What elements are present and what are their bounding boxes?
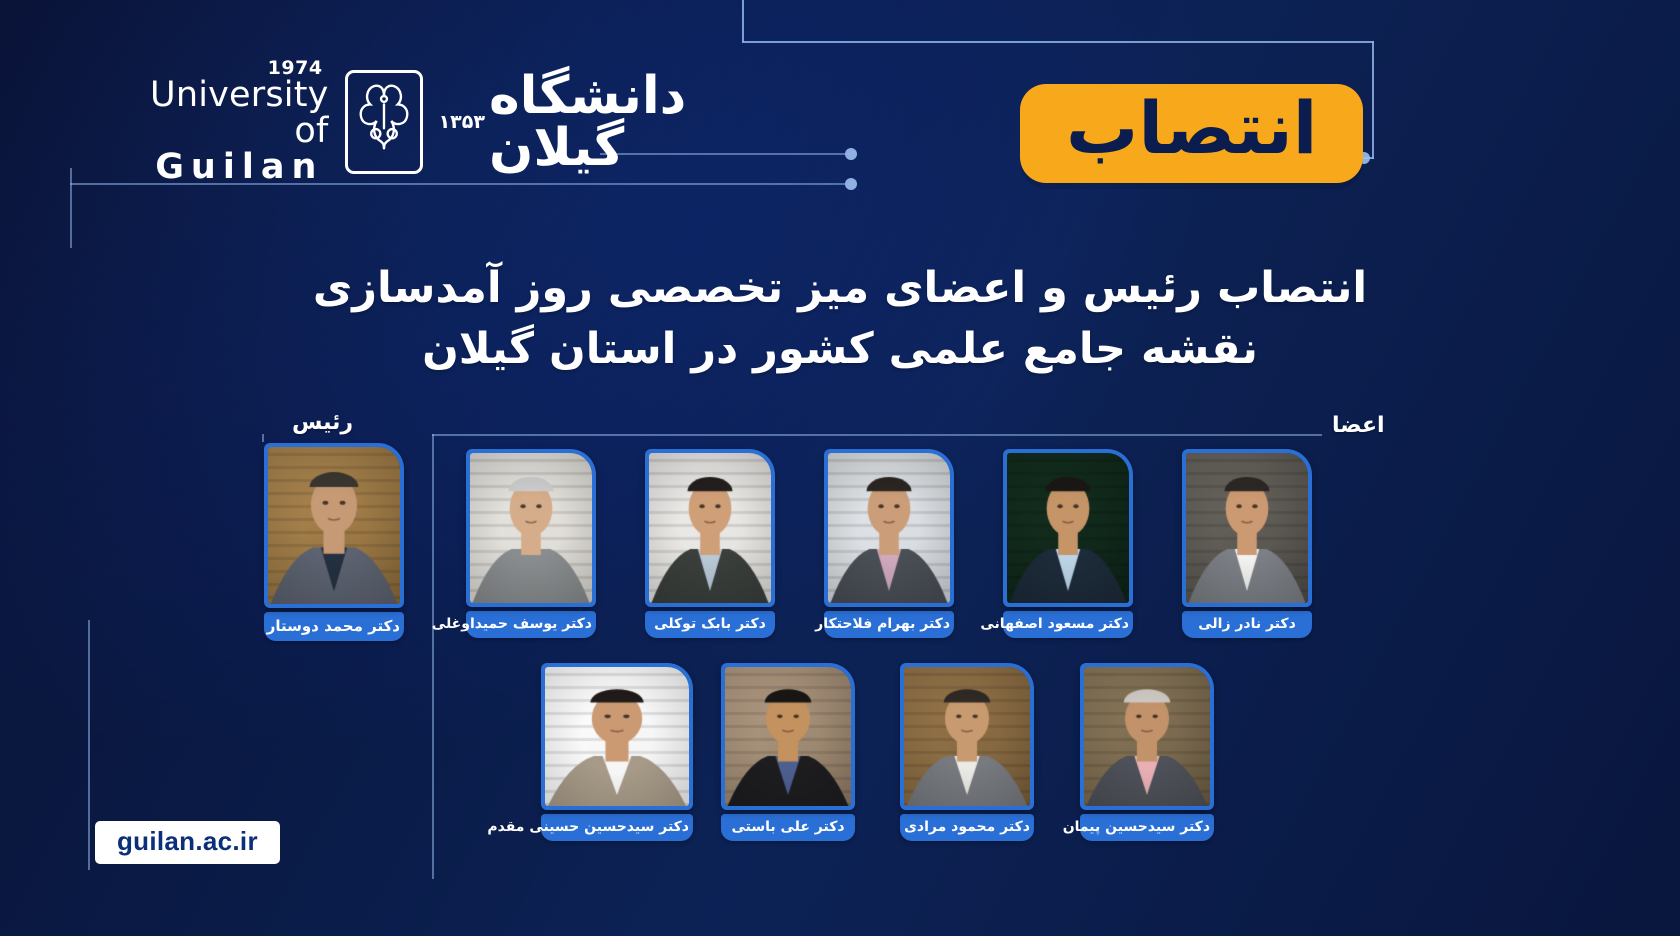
member-photo-frame	[721, 663, 855, 810]
member-photo-frame	[466, 449, 596, 607]
poster-canvas: 1974 University of Guilan ۱۳۵۳ دانشگاه گ…	[0, 0, 1680, 936]
member-photo-frame	[1003, 449, 1133, 607]
member-photo-frame	[900, 663, 1034, 810]
member-photo	[649, 453, 771, 603]
university-logo: 1974 University of Guilan ۱۳۵۳ دانشگاه گ…	[150, 62, 710, 182]
member-photo-frame	[1080, 663, 1214, 810]
member-name: دکتر نادر زالی	[1182, 611, 1312, 638]
member-photo	[904, 667, 1030, 806]
member-photo-frame	[645, 449, 775, 607]
member-card[interactable]: دکتر بهرام فلاحتکار	[824, 449, 954, 638]
member-photo	[828, 453, 950, 603]
member-card[interactable]: دکتر سیدحسین پیمان	[1080, 663, 1214, 841]
member-name: دکتر سیدحسین حسینی مقدم	[541, 814, 693, 841]
logo-name-en-line1: University of	[150, 78, 329, 149]
page-title-line1: انتصاب رئیس و اعضای میز تخصصی روز آمدساز…	[160, 258, 1520, 319]
section-label-members: اعضا	[1332, 413, 1385, 438]
chair-card[interactable]: دکتر محمد دوستار	[264, 443, 404, 641]
chair-name: دکتر محمد دوستار	[264, 612, 404, 641]
logo-year-fa: ۱۳۵۳	[439, 111, 485, 133]
deco-connector-chair	[262, 434, 264, 442]
appointment-badge-label: انتصاب	[1066, 92, 1317, 165]
logo-name-fa: دانشگاه گیلان	[489, 70, 710, 174]
member-card[interactable]: دکتر یوسف حمیداوغلی	[466, 449, 596, 638]
member-card[interactable]: دکتر مسعود اصفهانی	[1003, 449, 1133, 638]
page-title-line2: نقشه جامع علمی کشور در استان گیلان	[160, 319, 1520, 380]
member-name: دکتر بهرام فلاحتکار	[824, 611, 954, 638]
poster-header: 1974 University of Guilan ۱۳۵۳ دانشگاه گ…	[0, 0, 1680, 230]
chair-photo-frame	[264, 443, 404, 608]
member-name: دکتر یوسف حمیداوغلی	[466, 611, 596, 638]
member-name: دکتر محمود مرادی	[900, 814, 1034, 841]
member-photo	[470, 453, 592, 603]
logo-name-en-line2: Guilan	[150, 150, 329, 186]
member-photo	[545, 667, 689, 806]
member-name: دکتر مسعود اصفهانی	[1003, 611, 1133, 638]
member-card[interactable]: دکتر علی باستی	[721, 663, 855, 841]
member-card[interactable]: دکتر سیدحسین حسینی مقدم	[541, 663, 693, 841]
member-photo-frame	[1182, 449, 1312, 607]
member-photo-frame	[541, 663, 693, 810]
section-label-chair: رئیس	[292, 410, 353, 435]
member-photo	[1084, 667, 1210, 806]
member-photo	[725, 667, 851, 806]
butterfly-emblem-icon	[345, 70, 423, 174]
member-card[interactable]: دکتر نادر زالی	[1182, 449, 1312, 638]
member-photo-frame	[824, 449, 954, 607]
member-photo	[1186, 453, 1308, 603]
deco-connector-members-top	[432, 434, 1322, 436]
appointment-badge: انتصاب	[1020, 84, 1363, 183]
member-card[interactable]: دکتر بابک توکلی	[645, 449, 775, 638]
logo-persian-text: ۱۳۵۳ دانشگاه گیلان	[439, 70, 710, 174]
member-name: دکتر سیدحسین پیمان	[1080, 814, 1214, 841]
member-card[interactable]: دکتر محمود مرادی	[900, 663, 1034, 841]
page-title: انتصاب رئیس و اعضای میز تخصصی روز آمدساز…	[0, 258, 1680, 380]
member-photo	[1007, 453, 1129, 603]
chair-photo	[268, 447, 400, 604]
logo-english-text: 1974 University of Guilan	[150, 59, 329, 185]
deco-connector-members-stem	[432, 434, 434, 879]
website-pill[interactable]: guilan.ac.ir	[95, 821, 280, 864]
deco-line-bottom-left-vertical	[88, 620, 90, 870]
member-name: دکتر بابک توکلی	[645, 611, 775, 638]
member-name: دکتر علی باستی	[721, 814, 855, 841]
